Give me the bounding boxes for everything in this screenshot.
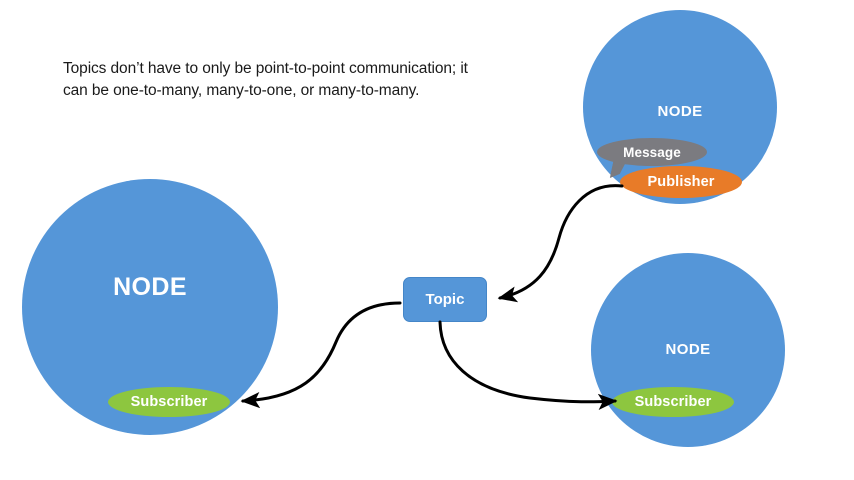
node-top-right-label: NODE <box>583 103 777 120</box>
subscriber-oval-bottom-right: Subscriber <box>612 387 734 417</box>
caption-text: Topics don’t have to only be point-to-po… <box>63 58 483 102</box>
connector-topic-to-subscriber-bottom-right <box>440 322 615 402</box>
diagram-slide: Topics don’t have to only be point-to-po… <box>0 0 854 480</box>
connector-publisher-to-topic <box>500 186 622 298</box>
publisher-oval: Publisher <box>620 166 742 198</box>
node-bottom-right-label: NODE <box>591 341 785 358</box>
message-oval: Message <box>597 138 707 166</box>
node-bottom-right: NODE <box>591 253 785 447</box>
topic-box: Topic <box>403 277 487 322</box>
subscriber-oval-big-left: Subscriber <box>108 387 230 417</box>
node-big-left-label: NODE <box>22 273 278 302</box>
